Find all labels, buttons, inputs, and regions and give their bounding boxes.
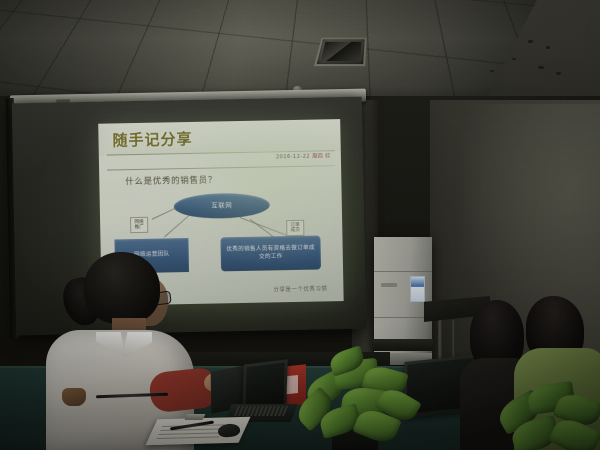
diagram-right-box: 优秀的销售人员有资格去做订单成交的工作 <box>220 235 321 271</box>
cup-on-table <box>62 388 86 406</box>
slide-title: 随手记分享 <box>112 128 192 151</box>
diagram-connector-right <box>240 217 293 238</box>
laptop-left-screen <box>245 363 284 409</box>
potted-plant-center <box>286 338 436 450</box>
diagram-left-tag: 网络推广 <box>130 217 148 234</box>
diagram-root-node: 互联网 <box>174 192 270 219</box>
presenter-hair <box>84 252 160 324</box>
diagram-right-label: 优秀的销售人员有资格去做订单成交的工作 <box>225 245 317 262</box>
diagram-root-label: 互联网 <box>174 199 270 210</box>
slide-subtitle: 什么是优秀的销售员？ <box>125 173 217 187</box>
photo-scene: 随手记分享 2016-12-22 周四 红 什么是优秀的销售员？ 互联网 网络运… <box>0 0 600 450</box>
slide-date-text: 2016-12-22 <box>276 154 312 161</box>
slide-date: 2016-12-22 周四 红 <box>276 152 331 160</box>
slide-footer: 分享是一个优秀习惯 <box>273 284 327 293</box>
diagram-right-tag: 订单成交 <box>286 220 304 237</box>
laptop-left-keyboard <box>234 406 288 416</box>
slide-date-weekday: 周四 红 <box>312 153 331 159</box>
ac-logo <box>381 283 397 287</box>
ac-energy-label <box>410 276 425 302</box>
potted-plant-right <box>498 372 600 450</box>
slide-second-rule <box>107 165 335 170</box>
clipboard-clip <box>185 414 206 420</box>
